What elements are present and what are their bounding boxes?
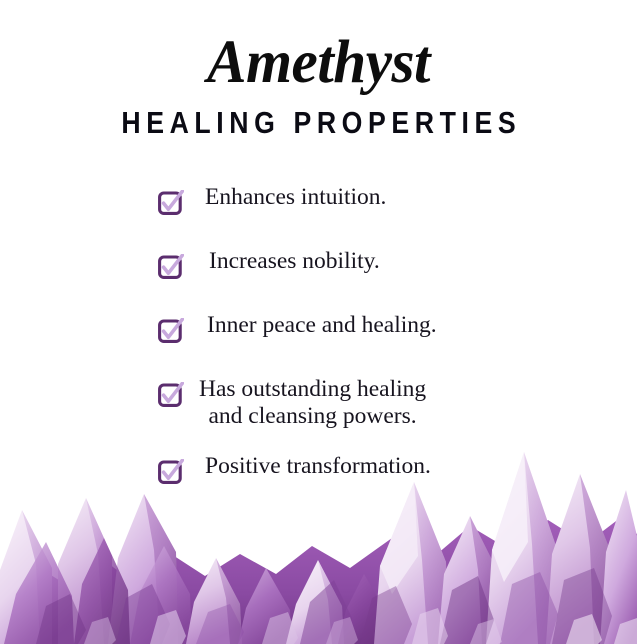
list-item: Has outstanding healing and cleansing po… (158, 376, 637, 430)
list-item-label: Has outstanding healing and cleansing po… (185, 376, 426, 430)
list-item-label: Enhances intuition. (185, 184, 386, 211)
page-subtitle: HEALING PROPERTIES (45, 93, 593, 138)
page-title: Amethyst (10, 0, 628, 93)
list-item-label: Increases nobility. (185, 248, 380, 275)
checked-checkbox-icon (158, 459, 184, 484)
amethyst-healing-properties-poster: Amethyst HEALING PROPERTIES Enhances int… (0, 0, 637, 644)
checked-checkbox-icon (158, 190, 184, 215)
list-item: Positive transformation. (158, 453, 637, 484)
list-item: Increases nobility. (158, 248, 637, 279)
list-item: Inner peace and healing. (158, 312, 637, 343)
list-item-label: Positive transformation. (185, 453, 431, 480)
checked-checkbox-icon (158, 382, 184, 407)
checked-checkbox-icon (158, 318, 184, 343)
checked-checkbox-icon (158, 254, 184, 279)
list-item-label: Inner peace and healing. (185, 312, 437, 339)
healing-properties-list: Enhances intuition. Increases nobility. … (0, 184, 637, 484)
poster-header: Amethyst HEALING PROPERTIES (0, 0, 637, 138)
list-item: Enhances intuition. (158, 184, 637, 215)
